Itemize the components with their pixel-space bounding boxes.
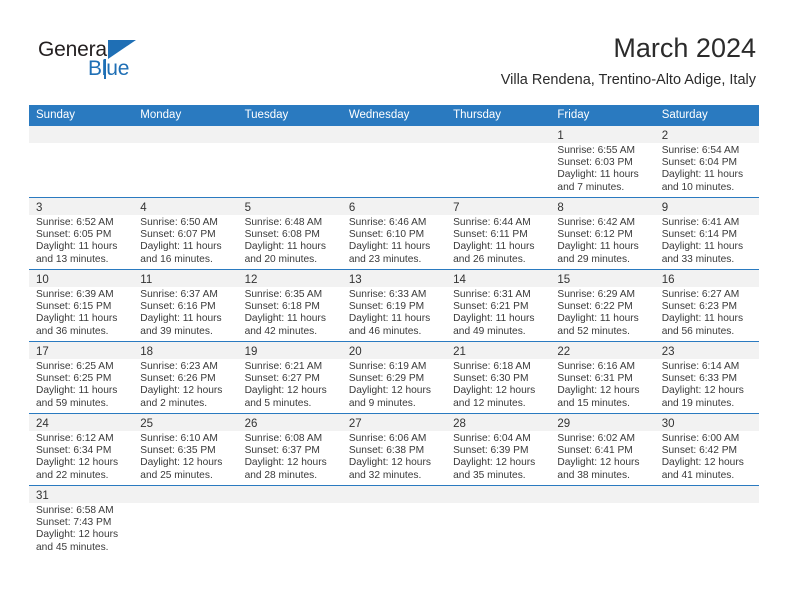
date-band: 30 bbox=[655, 414, 759, 431]
day-detail-line: Sunrise: 6:29 AM bbox=[557, 289, 648, 301]
date-number: 31 bbox=[36, 490, 49, 502]
date-band: 22 bbox=[550, 342, 654, 359]
day-detail bbox=[342, 143, 446, 145]
day-detail-line: Sunrise: 6:16 AM bbox=[557, 361, 648, 373]
day-detail-line: and 12 minutes. bbox=[453, 398, 544, 410]
weekday-header-friday: Friday bbox=[550, 105, 654, 126]
day-detail-line: Daylight: 11 hours bbox=[36, 385, 127, 397]
weekday-header-sunday: Sunday bbox=[29, 105, 133, 126]
day-detail-line: and 25 minutes. bbox=[140, 470, 231, 482]
day-detail-line: and 10 minutes. bbox=[662, 182, 753, 194]
day-detail-line: Daylight: 11 hours bbox=[140, 241, 231, 253]
calendar-body: 1Sunrise: 6:55 AMSunset: 6:03 PMDaylight… bbox=[29, 126, 759, 557]
day-detail-line: and 13 minutes. bbox=[36, 254, 127, 266]
date-number: 12 bbox=[245, 274, 258, 286]
day-cell-empty bbox=[655, 486, 759, 557]
day-detail-line: Sunset: 6:07 PM bbox=[140, 229, 231, 241]
date-band: 18 bbox=[133, 342, 237, 359]
day-detail-line: Sunset: 6:35 PM bbox=[140, 445, 231, 457]
day-detail: Sunrise: 6:58 AMSunset: 7:43 PMDaylight:… bbox=[29, 503, 133, 554]
day-detail-line: Sunset: 6:39 PM bbox=[453, 445, 544, 457]
day-cell-15[interactable]: 15Sunrise: 6:29 AMSunset: 6:22 PMDayligh… bbox=[550, 270, 654, 341]
day-detail-line: Daylight: 11 hours bbox=[662, 313, 753, 325]
date-band: 9 bbox=[655, 198, 759, 215]
date-band bbox=[29, 126, 133, 143]
day-cell-22[interactable]: 22Sunrise: 6:16 AMSunset: 6:31 PMDayligh… bbox=[550, 342, 654, 413]
day-detail-line: Sunrise: 6:08 AM bbox=[245, 433, 336, 445]
day-detail bbox=[550, 503, 654, 505]
day-cell-5[interactable]: 5Sunrise: 6:48 AMSunset: 6:08 PMDaylight… bbox=[238, 198, 342, 269]
day-detail-line: Sunset: 6:14 PM bbox=[662, 229, 753, 241]
day-cell-empty bbox=[342, 486, 446, 557]
day-detail-line: Daylight: 12 hours bbox=[245, 457, 336, 469]
date-band bbox=[550, 486, 654, 503]
day-cell-9[interactable]: 9Sunrise: 6:41 AMSunset: 6:14 PMDaylight… bbox=[655, 198, 759, 269]
day-cell-14[interactable]: 14Sunrise: 6:31 AMSunset: 6:21 PMDayligh… bbox=[446, 270, 550, 341]
day-detail-line: and 35 minutes. bbox=[453, 470, 544, 482]
day-detail bbox=[238, 143, 342, 145]
day-cell-27[interactable]: 27Sunrise: 6:06 AMSunset: 6:38 PMDayligh… bbox=[342, 414, 446, 485]
date-number: 26 bbox=[245, 418, 258, 430]
day-detail: Sunrise: 6:12 AMSunset: 6:34 PMDaylight:… bbox=[29, 431, 133, 482]
day-detail-line: Sunrise: 6:54 AM bbox=[662, 145, 753, 157]
day-detail: Sunrise: 6:54 AMSunset: 6:04 PMDaylight:… bbox=[655, 143, 759, 194]
day-detail-line: Daylight: 12 hours bbox=[453, 457, 544, 469]
day-detail-line: Sunset: 6:12 PM bbox=[557, 229, 648, 241]
day-detail bbox=[342, 503, 446, 505]
day-detail-line: Daylight: 11 hours bbox=[662, 241, 753, 253]
day-detail: Sunrise: 6:19 AMSunset: 6:29 PMDaylight:… bbox=[342, 359, 446, 410]
day-detail: Sunrise: 6:23 AMSunset: 6:26 PMDaylight:… bbox=[133, 359, 237, 410]
day-detail-line: Sunset: 6:34 PM bbox=[36, 445, 127, 457]
location-subtitle: Villa Rendena, Trentino-Alto Adige, Ital… bbox=[501, 70, 756, 90]
day-cell-11[interactable]: 11Sunrise: 6:37 AMSunset: 6:16 PMDayligh… bbox=[133, 270, 237, 341]
general-blue-logo: General Blue bbox=[38, 38, 168, 88]
date-number: 8 bbox=[557, 202, 563, 214]
date-band: 24 bbox=[29, 414, 133, 431]
day-detail-line: Sunset: 6:37 PM bbox=[245, 445, 336, 457]
day-cell-12[interactable]: 12Sunrise: 6:35 AMSunset: 6:18 PMDayligh… bbox=[238, 270, 342, 341]
day-detail-line: Sunset: 6:19 PM bbox=[349, 301, 440, 313]
day-detail bbox=[29, 143, 133, 145]
day-detail-line: Sunrise: 6:44 AM bbox=[453, 217, 544, 229]
day-cell-26[interactable]: 26Sunrise: 6:08 AMSunset: 6:37 PMDayligh… bbox=[238, 414, 342, 485]
day-detail-line: Sunrise: 6:31 AM bbox=[453, 289, 544, 301]
day-detail-line: Daylight: 11 hours bbox=[349, 241, 440, 253]
date-number: 4 bbox=[140, 202, 146, 214]
calendar-page: General Blue March 2024 Villa Rendena, T… bbox=[0, 0, 792, 612]
date-band: 19 bbox=[238, 342, 342, 359]
sunrise-sunset-calendar: SundayMondayTuesdayWednesdayThursdayFrid… bbox=[29, 105, 759, 557]
logo-text-blue: Blue bbox=[88, 57, 129, 81]
day-detail-line: and 52 minutes. bbox=[557, 326, 648, 338]
day-detail-line: and 19 minutes. bbox=[662, 398, 753, 410]
week-row: 1Sunrise: 6:55 AMSunset: 6:03 PMDaylight… bbox=[29, 126, 759, 198]
day-detail-line: and 2 minutes. bbox=[140, 398, 231, 410]
day-cell-empty bbox=[550, 486, 654, 557]
day-cell-empty bbox=[133, 126, 237, 197]
date-band: 16 bbox=[655, 270, 759, 287]
day-detail-line: Sunset: 6:08 PM bbox=[245, 229, 336, 241]
day-cell-empty bbox=[238, 486, 342, 557]
day-detail: Sunrise: 6:16 AMSunset: 6:31 PMDaylight:… bbox=[550, 359, 654, 410]
day-detail-line: and 46 minutes. bbox=[349, 326, 440, 338]
day-detail-line: Daylight: 12 hours bbox=[36, 457, 127, 469]
day-detail-line: Sunset: 6:03 PM bbox=[557, 157, 648, 169]
day-detail-line: Sunrise: 6:14 AM bbox=[662, 361, 753, 373]
day-detail-line: and 33 minutes. bbox=[662, 254, 753, 266]
day-detail-line: and 49 minutes. bbox=[453, 326, 544, 338]
day-detail-line: Sunrise: 6:37 AM bbox=[140, 289, 231, 301]
day-detail-line: and 32 minutes. bbox=[349, 470, 440, 482]
date-band: 29 bbox=[550, 414, 654, 431]
day-detail: Sunrise: 6:46 AMSunset: 6:10 PMDaylight:… bbox=[342, 215, 446, 266]
date-band bbox=[342, 126, 446, 143]
date-number: 23 bbox=[662, 346, 675, 358]
day-detail: Sunrise: 6:08 AMSunset: 6:37 PMDaylight:… bbox=[238, 431, 342, 482]
date-number: 24 bbox=[36, 418, 49, 430]
date-band: 21 bbox=[446, 342, 550, 359]
weekday-header-wednesday: Wednesday bbox=[342, 105, 446, 126]
date-number: 2 bbox=[662, 130, 668, 142]
day-detail-line: Daylight: 12 hours bbox=[557, 385, 648, 397]
day-detail-line: and 41 minutes. bbox=[662, 470, 753, 482]
day-cell-24[interactable]: 24Sunrise: 6:12 AMSunset: 6:34 PMDayligh… bbox=[29, 414, 133, 485]
date-number: 1 bbox=[557, 130, 563, 142]
day-detail: Sunrise: 6:39 AMSunset: 6:15 PMDaylight:… bbox=[29, 287, 133, 338]
day-detail-line: Daylight: 11 hours bbox=[662, 169, 753, 181]
week-row: 3Sunrise: 6:52 AMSunset: 6:05 PMDaylight… bbox=[29, 198, 759, 270]
date-number: 10 bbox=[36, 274, 49, 286]
day-detail: Sunrise: 6:50 AMSunset: 6:07 PMDaylight:… bbox=[133, 215, 237, 266]
day-detail-line: Daylight: 11 hours bbox=[557, 241, 648, 253]
date-band: 3 bbox=[29, 198, 133, 215]
date-band bbox=[446, 486, 550, 503]
day-cell-empty bbox=[29, 126, 133, 197]
day-detail: Sunrise: 6:37 AMSunset: 6:16 PMDaylight:… bbox=[133, 287, 237, 338]
weekday-header-row: SundayMondayTuesdayWednesdayThursdayFrid… bbox=[29, 105, 759, 126]
week-row: 17Sunrise: 6:25 AMSunset: 6:25 PMDayligh… bbox=[29, 342, 759, 414]
day-detail-line: Sunrise: 6:21 AM bbox=[245, 361, 336, 373]
day-detail-line: Sunrise: 6:25 AM bbox=[36, 361, 127, 373]
day-detail-line: Daylight: 12 hours bbox=[453, 385, 544, 397]
date-number: 29 bbox=[557, 418, 570, 430]
page-title: March 2024 bbox=[501, 32, 756, 64]
day-detail-line: Daylight: 12 hours bbox=[557, 457, 648, 469]
day-detail-line: Daylight: 12 hours bbox=[349, 457, 440, 469]
date-number: 5 bbox=[245, 202, 251, 214]
day-detail-line: Sunrise: 6:42 AM bbox=[557, 217, 648, 229]
date-band bbox=[133, 486, 237, 503]
day-cell-empty bbox=[446, 126, 550, 197]
day-cell-28[interactable]: 28Sunrise: 6:04 AMSunset: 6:39 PMDayligh… bbox=[446, 414, 550, 485]
day-detail-line: Sunrise: 6:06 AM bbox=[349, 433, 440, 445]
day-detail bbox=[133, 143, 237, 145]
day-detail: Sunrise: 6:21 AMSunset: 6:27 PMDaylight:… bbox=[238, 359, 342, 410]
date-band bbox=[342, 486, 446, 503]
day-detail bbox=[446, 503, 550, 505]
day-detail-line: Daylight: 11 hours bbox=[349, 313, 440, 325]
day-detail: Sunrise: 6:48 AMSunset: 6:08 PMDaylight:… bbox=[238, 215, 342, 266]
date-band: 20 bbox=[342, 342, 446, 359]
day-detail-line: Sunrise: 6:04 AM bbox=[453, 433, 544, 445]
day-detail-line: Sunset: 6:41 PM bbox=[557, 445, 648, 457]
day-detail: Sunrise: 6:35 AMSunset: 6:18 PMDaylight:… bbox=[238, 287, 342, 338]
day-detail: Sunrise: 6:33 AMSunset: 6:19 PMDaylight:… bbox=[342, 287, 446, 338]
date-number: 21 bbox=[453, 346, 466, 358]
date-band bbox=[238, 486, 342, 503]
day-detail-line: Sunset: 6:16 PM bbox=[140, 301, 231, 313]
day-cell-18[interactable]: 18Sunrise: 6:23 AMSunset: 6:26 PMDayligh… bbox=[133, 342, 237, 413]
day-cell-2[interactable]: 2Sunrise: 6:54 AMSunset: 6:04 PMDaylight… bbox=[655, 126, 759, 197]
day-detail-line: and 42 minutes. bbox=[245, 326, 336, 338]
day-detail-line: Sunset: 6:33 PM bbox=[662, 373, 753, 385]
day-detail bbox=[655, 503, 759, 505]
day-cell-7[interactable]: 7Sunrise: 6:44 AMSunset: 6:11 PMDaylight… bbox=[446, 198, 550, 269]
day-cell-25[interactable]: 25Sunrise: 6:10 AMSunset: 6:35 PMDayligh… bbox=[133, 414, 237, 485]
day-detail-line: Sunset: 6:23 PM bbox=[662, 301, 753, 313]
day-detail-line: Daylight: 11 hours bbox=[453, 241, 544, 253]
day-detail-line: and 36 minutes. bbox=[36, 326, 127, 338]
date-number: 16 bbox=[662, 274, 675, 286]
day-detail-line: and 23 minutes. bbox=[349, 254, 440, 266]
day-cell-16[interactable]: 16Sunrise: 6:27 AMSunset: 6:23 PMDayligh… bbox=[655, 270, 759, 341]
day-cell-10[interactable]: 10Sunrise: 6:39 AMSunset: 6:15 PMDayligh… bbox=[29, 270, 133, 341]
day-detail: Sunrise: 6:10 AMSunset: 6:35 PMDaylight:… bbox=[133, 431, 237, 482]
day-detail-line: Daylight: 12 hours bbox=[140, 457, 231, 469]
day-cell-empty bbox=[238, 126, 342, 197]
date-band bbox=[238, 126, 342, 143]
day-cell-20[interactable]: 20Sunrise: 6:19 AMSunset: 6:29 PMDayligh… bbox=[342, 342, 446, 413]
day-detail-line: Sunset: 7:43 PM bbox=[36, 517, 127, 529]
date-number: 18 bbox=[140, 346, 153, 358]
day-detail-line: Daylight: 12 hours bbox=[662, 457, 753, 469]
day-detail-line: Sunset: 6:05 PM bbox=[36, 229, 127, 241]
date-number: 7 bbox=[453, 202, 459, 214]
day-detail-line: Sunrise: 6:12 AM bbox=[36, 433, 127, 445]
day-detail bbox=[133, 503, 237, 505]
day-detail bbox=[238, 503, 342, 505]
day-cell-4[interactable]: 4Sunrise: 6:50 AMSunset: 6:07 PMDaylight… bbox=[133, 198, 237, 269]
day-detail bbox=[446, 143, 550, 145]
day-detail-line: Sunrise: 6:27 AM bbox=[662, 289, 753, 301]
day-detail-line: Daylight: 11 hours bbox=[36, 313, 127, 325]
date-band bbox=[133, 126, 237, 143]
day-detail-line: Sunset: 6:38 PM bbox=[349, 445, 440, 457]
date-band: 7 bbox=[446, 198, 550, 215]
date-number: 30 bbox=[662, 418, 675, 430]
day-cell-1[interactable]: 1Sunrise: 6:55 AMSunset: 6:03 PMDaylight… bbox=[550, 126, 654, 197]
day-detail-line: Daylight: 12 hours bbox=[140, 385, 231, 397]
day-detail: Sunrise: 6:02 AMSunset: 6:41 PMDaylight:… bbox=[550, 431, 654, 482]
day-detail-line: and 59 minutes. bbox=[36, 398, 127, 410]
date-number: 3 bbox=[36, 202, 42, 214]
date-number: 28 bbox=[453, 418, 466, 430]
day-cell-8[interactable]: 8Sunrise: 6:42 AMSunset: 6:12 PMDaylight… bbox=[550, 198, 654, 269]
day-detail-line: Sunset: 6:18 PM bbox=[245, 301, 336, 313]
day-detail: Sunrise: 6:31 AMSunset: 6:21 PMDaylight:… bbox=[446, 287, 550, 338]
day-detail-line: Sunset: 6:27 PM bbox=[245, 373, 336, 385]
day-cell-21[interactable]: 21Sunrise: 6:18 AMSunset: 6:30 PMDayligh… bbox=[446, 342, 550, 413]
day-detail: Sunrise: 6:44 AMSunset: 6:11 PMDaylight:… bbox=[446, 215, 550, 266]
day-detail-line: Sunset: 6:30 PM bbox=[453, 373, 544, 385]
day-detail: Sunrise: 6:00 AMSunset: 6:42 PMDaylight:… bbox=[655, 431, 759, 482]
day-detail-line: Sunrise: 6:39 AM bbox=[36, 289, 127, 301]
date-number: 25 bbox=[140, 418, 153, 430]
weekday-header-monday: Monday bbox=[133, 105, 237, 126]
weekday-header-tuesday: Tuesday bbox=[238, 105, 342, 126]
day-detail-line: Sunrise: 6:18 AM bbox=[453, 361, 544, 373]
day-detail-line: and 7 minutes. bbox=[557, 182, 648, 194]
date-band: 17 bbox=[29, 342, 133, 359]
title-block: March 2024 Villa Rendena, Trentino-Alto … bbox=[501, 32, 756, 90]
date-band: 26 bbox=[238, 414, 342, 431]
date-number: 20 bbox=[349, 346, 362, 358]
day-detail-line: Sunrise: 6:52 AM bbox=[36, 217, 127, 229]
day-detail-line: Daylight: 11 hours bbox=[140, 313, 231, 325]
date-band: 28 bbox=[446, 414, 550, 431]
day-detail-line: and 29 minutes. bbox=[557, 254, 648, 266]
day-cell-3[interactable]: 3Sunrise: 6:52 AMSunset: 6:05 PMDaylight… bbox=[29, 198, 133, 269]
day-detail-line: Daylight: 11 hours bbox=[557, 169, 648, 181]
date-band: 14 bbox=[446, 270, 550, 287]
date-band: 13 bbox=[342, 270, 446, 287]
day-detail-line: Sunset: 6:31 PM bbox=[557, 373, 648, 385]
day-detail-line: Sunrise: 6:02 AM bbox=[557, 433, 648, 445]
date-band: 12 bbox=[238, 270, 342, 287]
day-detail-line: Sunrise: 6:55 AM bbox=[557, 145, 648, 157]
date-band: 6 bbox=[342, 198, 446, 215]
date-number: 27 bbox=[349, 418, 362, 430]
day-detail-line: Sunset: 6:29 PM bbox=[349, 373, 440, 385]
date-band: 27 bbox=[342, 414, 446, 431]
week-row: 10Sunrise: 6:39 AMSunset: 6:15 PMDayligh… bbox=[29, 270, 759, 342]
day-detail-line: and 56 minutes. bbox=[662, 326, 753, 338]
day-detail: Sunrise: 6:55 AMSunset: 6:03 PMDaylight:… bbox=[550, 143, 654, 194]
date-number: 13 bbox=[349, 274, 362, 286]
date-band: 4 bbox=[133, 198, 237, 215]
day-detail: Sunrise: 6:18 AMSunset: 6:30 PMDaylight:… bbox=[446, 359, 550, 410]
day-detail-line: and 28 minutes. bbox=[245, 470, 336, 482]
date-band: 8 bbox=[550, 198, 654, 215]
day-detail-line: Daylight: 12 hours bbox=[662, 385, 753, 397]
day-detail-line: Sunrise: 6:48 AM bbox=[245, 217, 336, 229]
day-detail-line: Daylight: 12 hours bbox=[349, 385, 440, 397]
day-detail-line: and 20 minutes. bbox=[245, 254, 336, 266]
day-detail: Sunrise: 6:06 AMSunset: 6:38 PMDaylight:… bbox=[342, 431, 446, 482]
date-band bbox=[446, 126, 550, 143]
day-detail: Sunrise: 6:41 AMSunset: 6:14 PMDaylight:… bbox=[655, 215, 759, 266]
weekday-header-thursday: Thursday bbox=[446, 105, 550, 126]
date-number: 9 bbox=[662, 202, 668, 214]
day-detail-line: and 45 minutes. bbox=[36, 542, 127, 554]
day-cell-13[interactable]: 13Sunrise: 6:33 AMSunset: 6:19 PMDayligh… bbox=[342, 270, 446, 341]
day-detail-line: Sunrise: 6:10 AM bbox=[140, 433, 231, 445]
day-detail-line: Daylight: 12 hours bbox=[36, 529, 127, 541]
day-detail: Sunrise: 6:52 AMSunset: 6:05 PMDaylight:… bbox=[29, 215, 133, 266]
week-row: 24Sunrise: 6:12 AMSunset: 6:34 PMDayligh… bbox=[29, 414, 759, 486]
day-detail: Sunrise: 6:04 AMSunset: 6:39 PMDaylight:… bbox=[446, 431, 550, 482]
day-detail-line: and 22 minutes. bbox=[36, 470, 127, 482]
day-cell-empty bbox=[133, 486, 237, 557]
day-cell-31[interactable]: 31Sunrise: 6:58 AMSunset: 7:43 PMDayligh… bbox=[29, 486, 133, 557]
day-cell-29[interactable]: 29Sunrise: 6:02 AMSunset: 6:41 PMDayligh… bbox=[550, 414, 654, 485]
day-detail-line: Daylight: 11 hours bbox=[245, 241, 336, 253]
day-cell-empty bbox=[446, 486, 550, 557]
day-detail: Sunrise: 6:42 AMSunset: 6:12 PMDaylight:… bbox=[550, 215, 654, 266]
day-detail-line: Sunset: 6:15 PM bbox=[36, 301, 127, 313]
date-band: 11 bbox=[133, 270, 237, 287]
day-detail-line: Sunrise: 6:41 AM bbox=[662, 217, 753, 229]
day-detail-line: Sunset: 6:25 PM bbox=[36, 373, 127, 385]
day-detail-line: Daylight: 11 hours bbox=[36, 241, 127, 253]
date-band: 1 bbox=[550, 126, 654, 143]
day-detail-line: Daylight: 11 hours bbox=[453, 313, 544, 325]
day-detail-line: Sunrise: 6:58 AM bbox=[36, 505, 127, 517]
page-header: General Blue March 2024 Villa Rendena, T… bbox=[0, 0, 792, 100]
day-detail: Sunrise: 6:29 AMSunset: 6:22 PMDaylight:… bbox=[550, 287, 654, 338]
date-number: 22 bbox=[557, 346, 570, 358]
day-detail-line: Sunrise: 6:50 AM bbox=[140, 217, 231, 229]
day-detail-line: Daylight: 11 hours bbox=[557, 313, 648, 325]
day-detail-line: Sunrise: 6:35 AM bbox=[245, 289, 336, 301]
day-detail-line: and 5 minutes. bbox=[245, 398, 336, 410]
day-detail-line: Sunset: 6:04 PM bbox=[662, 157, 753, 169]
day-cell-30[interactable]: 30Sunrise: 6:00 AMSunset: 6:42 PMDayligh… bbox=[655, 414, 759, 485]
weekday-header-saturday: Saturday bbox=[655, 105, 759, 126]
day-detail-line: Sunset: 6:21 PM bbox=[453, 301, 544, 313]
date-number: 19 bbox=[245, 346, 258, 358]
week-row: 31Sunrise: 6:58 AMSunset: 7:43 PMDayligh… bbox=[29, 486, 759, 557]
date-band: 15 bbox=[550, 270, 654, 287]
day-cell-19[interactable]: 19Sunrise: 6:21 AMSunset: 6:27 PMDayligh… bbox=[238, 342, 342, 413]
date-number: 6 bbox=[349, 202, 355, 214]
day-detail-line: Sunrise: 6:00 AM bbox=[662, 433, 753, 445]
day-detail-line: and 39 minutes. bbox=[140, 326, 231, 338]
day-cell-23[interactable]: 23Sunrise: 6:14 AMSunset: 6:33 PMDayligh… bbox=[655, 342, 759, 413]
day-detail-line: Sunset: 6:26 PM bbox=[140, 373, 231, 385]
day-detail-line: Sunset: 6:22 PM bbox=[557, 301, 648, 313]
day-detail-line: Sunrise: 6:19 AM bbox=[349, 361, 440, 373]
day-detail-line: Sunset: 6:10 PM bbox=[349, 229, 440, 241]
day-detail-line: Sunset: 6:11 PM bbox=[453, 229, 544, 241]
date-number: 15 bbox=[557, 274, 570, 286]
day-cell-17[interactable]: 17Sunrise: 6:25 AMSunset: 6:25 PMDayligh… bbox=[29, 342, 133, 413]
date-number: 14 bbox=[453, 274, 466, 286]
date-band bbox=[655, 486, 759, 503]
date-band: 23 bbox=[655, 342, 759, 359]
date-number: 11 bbox=[140, 274, 152, 286]
day-detail-line: and 16 minutes. bbox=[140, 254, 231, 266]
date-band: 25 bbox=[133, 414, 237, 431]
day-detail-line: Sunset: 6:42 PM bbox=[662, 445, 753, 457]
day-detail: Sunrise: 6:25 AMSunset: 6:25 PMDaylight:… bbox=[29, 359, 133, 410]
day-detail-line: Daylight: 12 hours bbox=[245, 385, 336, 397]
day-detail-line: and 26 minutes. bbox=[453, 254, 544, 266]
day-detail-line: Sunrise: 6:46 AM bbox=[349, 217, 440, 229]
date-band: 31 bbox=[29, 486, 133, 503]
day-detail-line: Daylight: 11 hours bbox=[245, 313, 336, 325]
day-cell-empty bbox=[342, 126, 446, 197]
day-cell-6[interactable]: 6Sunrise: 6:46 AMSunset: 6:10 PMDaylight… bbox=[342, 198, 446, 269]
day-detail-line: and 38 minutes. bbox=[557, 470, 648, 482]
day-detail-line: Sunrise: 6:33 AM bbox=[349, 289, 440, 301]
day-detail-line: and 15 minutes. bbox=[557, 398, 648, 410]
day-detail-line: Sunrise: 6:23 AM bbox=[140, 361, 231, 373]
day-detail-line: and 9 minutes. bbox=[349, 398, 440, 410]
date-number: 17 bbox=[36, 346, 49, 358]
date-band: 10 bbox=[29, 270, 133, 287]
